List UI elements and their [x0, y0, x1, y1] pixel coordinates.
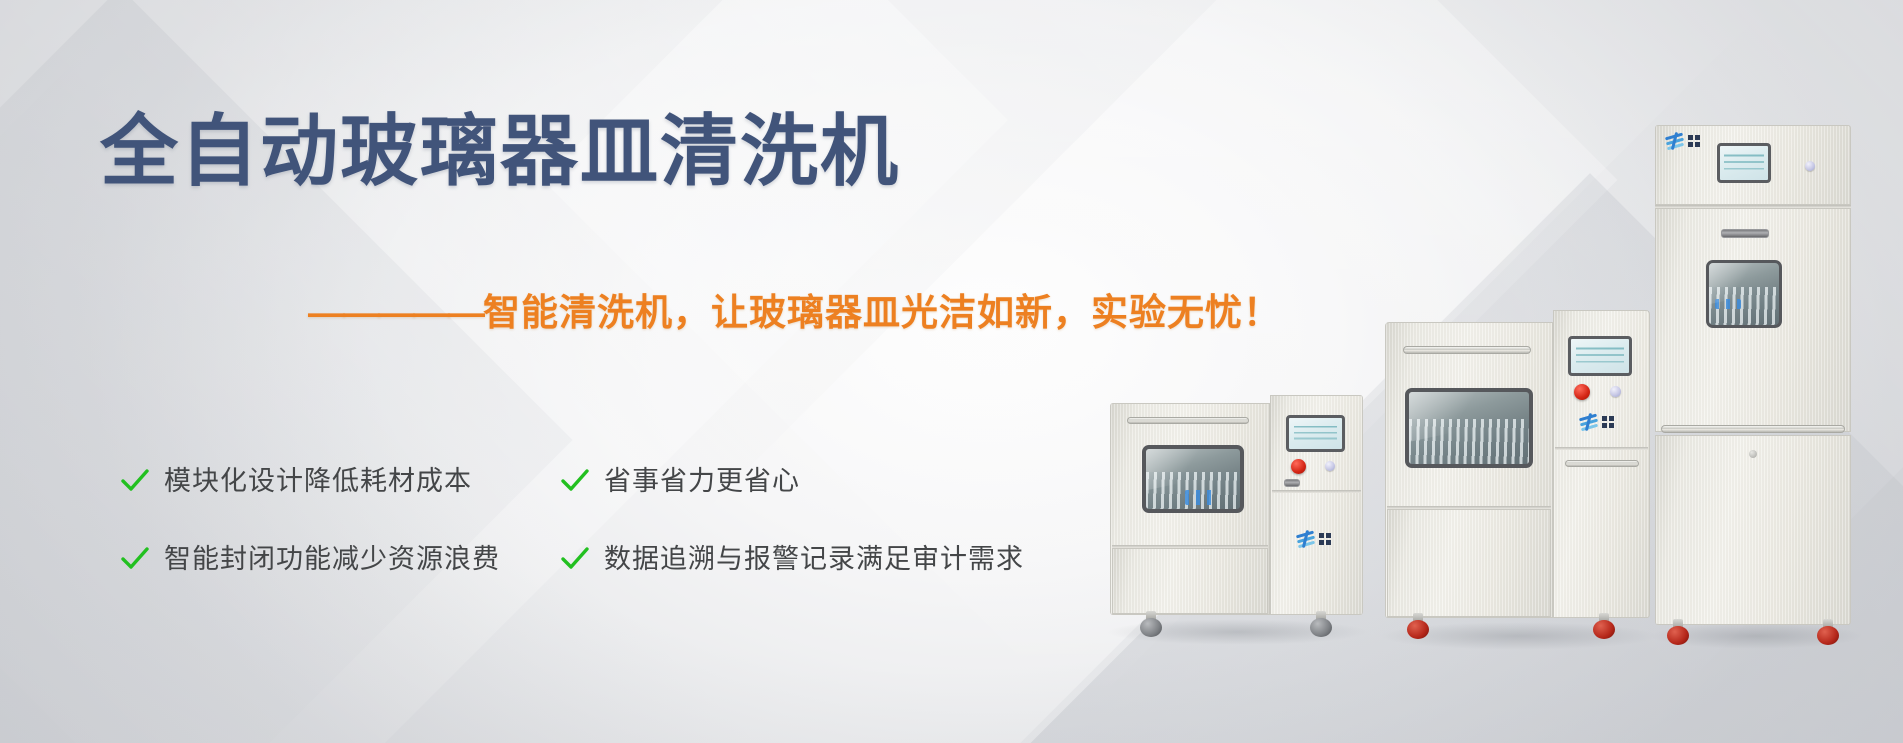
touchscreen-hmi[interactable] [1568, 336, 1632, 376]
company-logo [1665, 133, 1700, 149]
caster-wheel-disc [1667, 626, 1689, 645]
logo-squares [1319, 533, 1331, 545]
caster-wheel [1593, 613, 1615, 639]
hmi-screen-content [1724, 151, 1763, 174]
door-handle [1403, 346, 1531, 354]
hmi-screen-content [1576, 344, 1624, 367]
caster-wheel-disc [1310, 618, 1332, 637]
logo-h-mark [1665, 133, 1685, 149]
caster-wheel [1407, 613, 1429, 639]
logo-h-mark [1579, 414, 1599, 430]
door-handle [1661, 425, 1845, 433]
caster-wheel [1667, 619, 1689, 645]
emergency-stop-button[interactable] [1574, 384, 1590, 400]
product-image-tall-cabinet-glassware-washer [1655, 125, 1855, 640]
blue-tubes [1185, 490, 1213, 506]
brushed-texture [1656, 436, 1850, 624]
chamber-window [1405, 388, 1533, 468]
company-logo [1579, 414, 1614, 430]
panel-seam [1555, 447, 1648, 450]
product-image-freestanding-glassware-washer [1385, 310, 1650, 640]
caster-wheel-disc [1140, 618, 1162, 637]
door-handle [1127, 417, 1249, 424]
vent-grille [1721, 229, 1769, 238]
logo-h-mark [1296, 531, 1316, 547]
touchscreen-hmi[interactable] [1717, 143, 1771, 183]
hmi-screen-content [1294, 423, 1337, 444]
product-image-undercounter-glassware-washer [1110, 395, 1360, 635]
chamber-window [1142, 445, 1244, 513]
emergency-stop-button[interactable] [1291, 459, 1306, 474]
caster-wheel-disc [1407, 620, 1429, 639]
caster-wheel [1140, 611, 1162, 637]
caster-wheel [1817, 619, 1839, 645]
vent-grille [1284, 479, 1300, 487]
cabinet-bottom-section [1655, 435, 1851, 625]
touchscreen-hmi[interactable] [1286, 415, 1345, 452]
caster-wheel-disc [1817, 626, 1839, 645]
brushed-texture [1388, 510, 1550, 616]
brushed-texture [1113, 549, 1267, 613]
door-latch[interactable] [1749, 450, 1757, 458]
panel-seam [1272, 490, 1361, 493]
company-logo [1296, 531, 1331, 547]
power-button[interactable] [1325, 461, 1335, 471]
logo-squares [1688, 135, 1700, 147]
caster-wheel-disc [1593, 620, 1615, 639]
lower-panel [1387, 509, 1551, 617]
product-images [0, 0, 1903, 743]
product-banner: 全自动玻璃器皿清洗机 —————智能清洗机，让玻璃器皿光洁如新，实验无忧！ 模块… [0, 0, 1903, 743]
drawer-handle [1565, 460, 1639, 467]
chamber-window [1706, 260, 1782, 328]
power-button[interactable] [1805, 161, 1815, 171]
logo-squares [1602, 416, 1614, 428]
caster-wheel [1310, 611, 1332, 637]
lower-panel [1112, 548, 1268, 614]
power-button[interactable] [1610, 386, 1621, 397]
